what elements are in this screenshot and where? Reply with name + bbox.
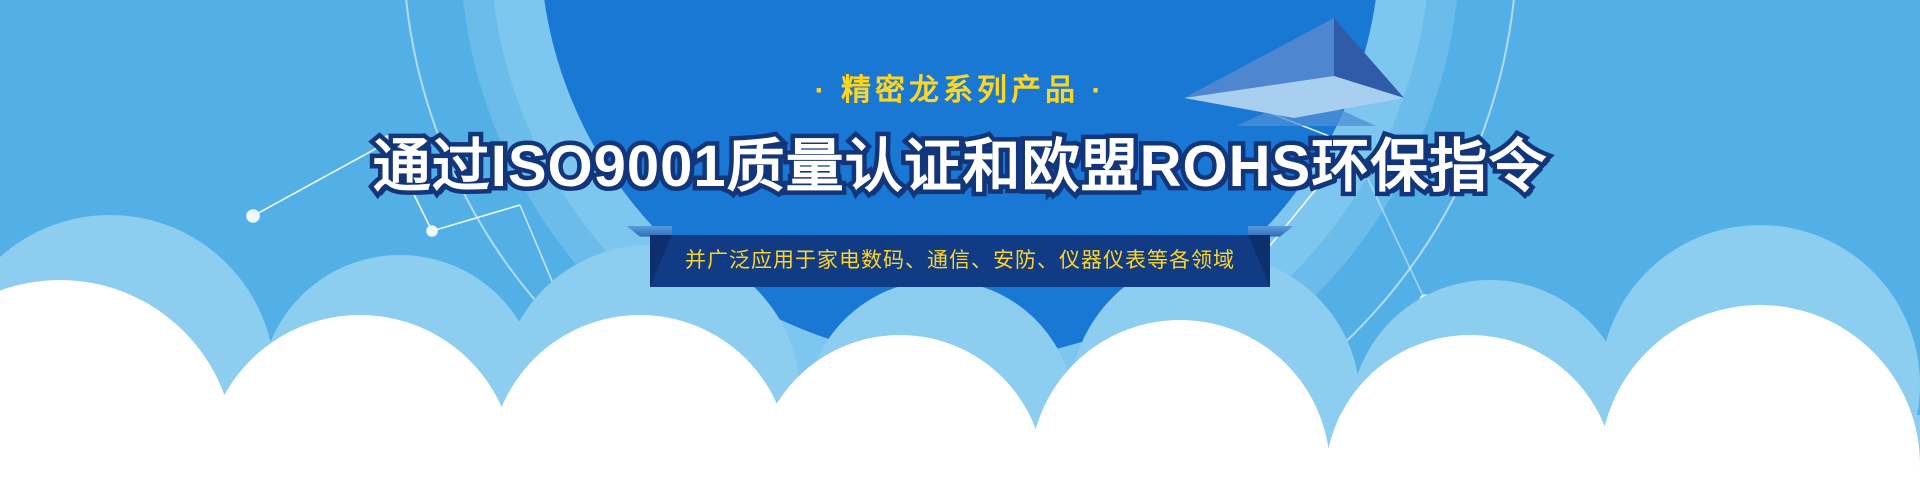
pyramid-icon [1176,6,1416,146]
cloud-band [0,180,1920,480]
promo-banner: · 精密龙系列产品 · 通过ISO9001质量认证和欧盟ROHS环保指令 并广泛… [0,0,1920,480]
